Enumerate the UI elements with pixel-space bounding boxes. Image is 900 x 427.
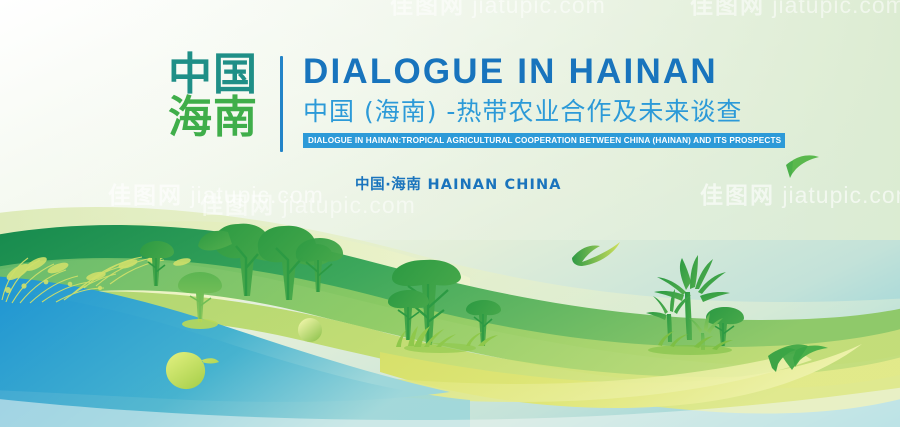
tagline: 中国·海南HAINAN CHINA [355, 173, 562, 194]
poster-canvas: 佳图网 jiatupic.com 佳图网 jiatupic.com 佳图网 ji… [0, 0, 900, 427]
subtitle-banner: DIALOGUE IN HAINAN:TROPICAL AGRICULTURAL… [303, 133, 785, 148]
tagline-chinese: 中国·海南 [355, 177, 422, 193]
title-block: DIALOGUE IN HAINAN 中国 (海南) -热带农业合作及未来谈查 … [303, 52, 785, 148]
tagline-english: HAINAN CHINA [428, 177, 562, 193]
logo-line-hainan: 海南 [168, 96, 258, 139]
poster-header: 中国 海南 DIALOGUE IN HAINAN 中国 (海南) -热带农业合作… [168, 52, 785, 152]
title-english: DIALOGUE IN HAINAN [303, 54, 785, 89]
sphere-ornament [298, 318, 322, 342]
logo-line-zhongguo: 中国 [168, 53, 258, 96]
vertical-divider [280, 56, 283, 152]
logo-chinese: 中国 海南 [168, 52, 258, 139]
title-chinese: 中国 (海南) -热带农业合作及未来谈查 [303, 96, 785, 127]
